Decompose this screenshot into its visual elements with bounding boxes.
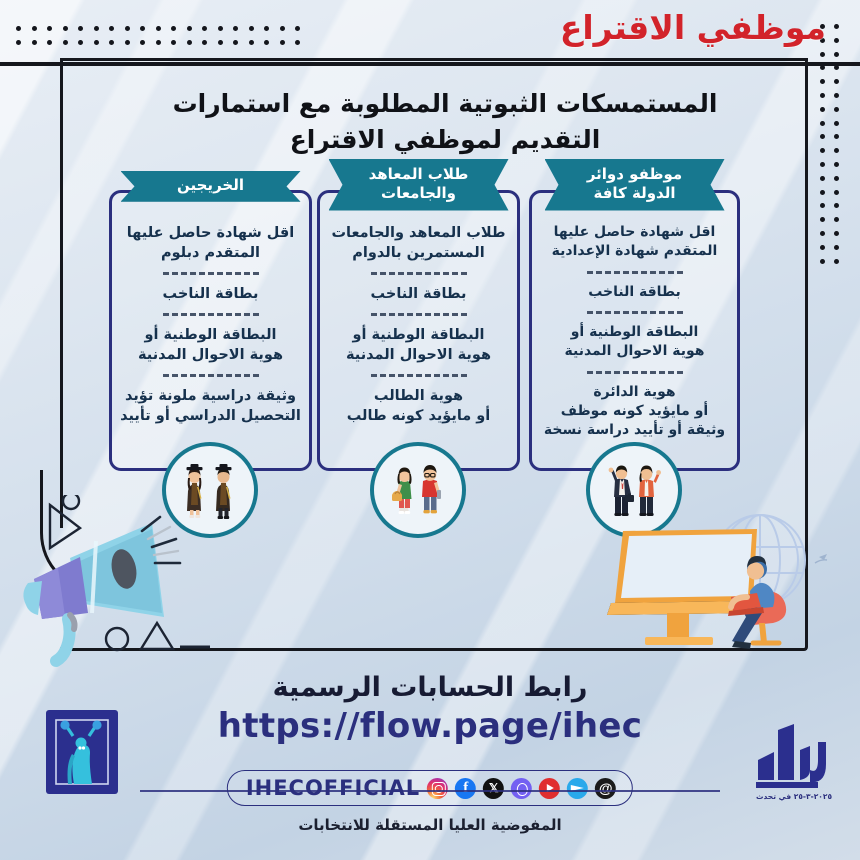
column-graduates: الخريجين اقل شهادة حاصل عليها المتقدم دب… xyxy=(109,190,312,471)
dashed-separator xyxy=(587,371,683,374)
footer-caption: المفوضية العليا المستقلة للانتخابات xyxy=(0,816,860,834)
column-graduates-body: اقل شهادة حاصل عليها المتقدم دبلوم بطاقة… xyxy=(112,223,309,426)
viber-icon[interactable] xyxy=(511,778,532,799)
dashed-separator xyxy=(587,311,683,314)
telegram-icon[interactable] xyxy=(567,778,588,799)
official-url[interactable]: https://flow.page/ihec xyxy=(0,706,860,746)
column-graduates-ribbon: الخريجين xyxy=(121,171,301,202)
list-item: وثيقة دراسية ملونة تؤيد التحصيل الدراسي … xyxy=(120,386,301,426)
column-state-employees: موظفو دوائر الدولة كافة اقل شهادة حاصل ع… xyxy=(529,190,740,471)
list-item: هوية الطالب أو مايؤيد كونه طالب xyxy=(328,386,509,426)
list-item: اقل شهادة حاصل عليها المتقدم شهادة الإعد… xyxy=(540,223,729,262)
list-item: البطاقة الوطنية أو هوية الاحوال المدنية xyxy=(120,325,301,365)
social-handle: IHECOFFICIAL xyxy=(246,776,420,800)
facebook-icon[interactable]: f xyxy=(455,778,476,799)
footer-divider xyxy=(140,790,720,792)
column-state-employees-ribbon: موظفو دوائر الدولة كافة xyxy=(545,159,725,211)
decorative-dots-top-left xyxy=(16,26,316,48)
dashed-separator xyxy=(371,313,467,316)
megaphone-illustration xyxy=(18,495,213,680)
list-item: بطاقة الناخب xyxy=(120,284,301,304)
list-item: بطاقة الناخب xyxy=(540,283,729,302)
infographic-canvas: موظفي الاقتراع المستمسكات الثبوتية المطل… xyxy=(0,0,860,860)
dashed-separator xyxy=(163,374,259,377)
students-illustration xyxy=(370,442,466,538)
dashed-separator xyxy=(587,271,683,274)
youtube-icon[interactable] xyxy=(539,778,560,799)
list-item: اقل شهادة حاصل عليها المتقدم دبلوم xyxy=(120,223,301,263)
dashed-separator xyxy=(371,374,467,377)
social-links-bar[interactable]: IHECOFFICIAL f 𝕏 @ xyxy=(227,770,633,806)
media-logo-date: ٢٠٢٥-٣-٢٥ في تحدث xyxy=(748,792,840,801)
dashed-separator xyxy=(163,313,259,316)
column-students: طلاب المعاهد والجامعات طلاب المعاهد والج… xyxy=(317,190,520,471)
columns-group: الخريجين اقل شهادة حاصل عليها المتقدم دب… xyxy=(0,190,860,510)
media-logo: ٢٠٢٥-٣-٢٥ في تحدث xyxy=(748,708,840,800)
threads-icon[interactable]: @ xyxy=(595,778,616,799)
column-students-body: طلاب المعاهد والجامعات المستمرين بالدوام… xyxy=(320,223,517,426)
x-twitter-icon[interactable]: 𝕏 xyxy=(483,778,504,799)
ihec-logo xyxy=(44,706,120,798)
instagram-icon[interactable] xyxy=(427,778,448,799)
accounts-label: رابط الحسابات الرسمية xyxy=(0,672,860,703)
list-item: طلاب المعاهد والجامعات المستمرين بالدوام xyxy=(328,223,509,263)
list-item: البطاقة الوطنية أو هوية الاحوال المدنية xyxy=(540,323,729,362)
desk-work-illustration xyxy=(605,505,840,655)
main-heading: المستمسكات الثبوتية المطلوبة مع استمارات… xyxy=(125,86,765,157)
list-item: البطاقة الوطنية أو هوية الاحوال المدنية xyxy=(328,325,509,365)
page-title: موظفي الاقتراع xyxy=(560,8,826,47)
column-state-employees-body: اقل شهادة حاصل عليها المتقدم شهادة الإعد… xyxy=(532,223,737,460)
column-students-ribbon: طلاب المعاهد والجامعات xyxy=(329,159,509,211)
dashed-separator xyxy=(163,272,259,275)
dashed-separator xyxy=(371,272,467,275)
list-item: بطاقة الناخب xyxy=(328,284,509,304)
